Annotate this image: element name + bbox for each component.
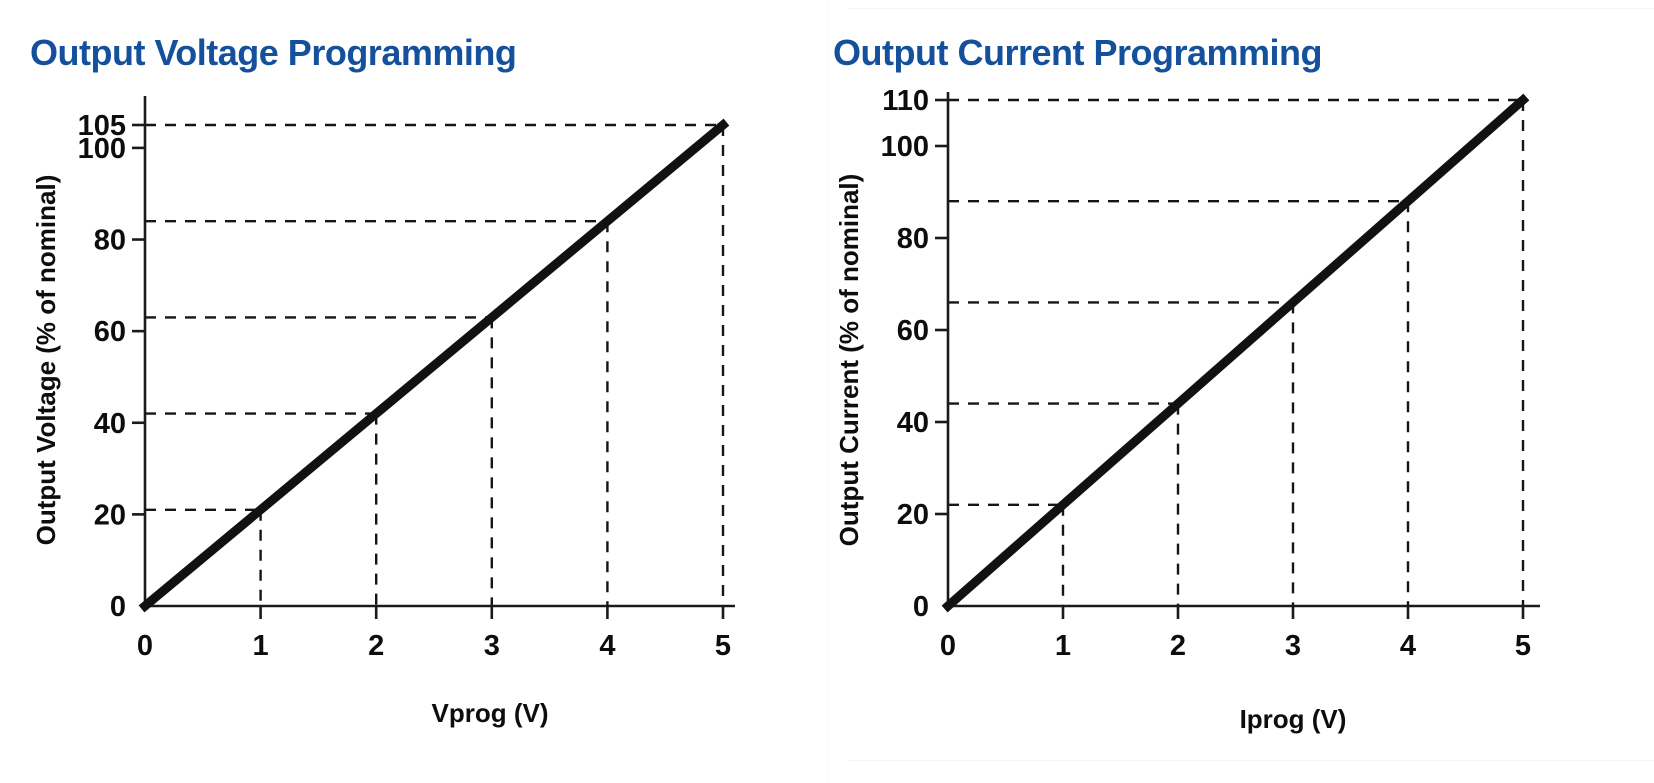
y-tick-label: 20	[897, 499, 929, 531]
x-tick-labels-current: 012345	[940, 630, 1531, 662]
y-tick-label: 100	[881, 131, 929, 163]
x-tick-labels-voltage: 012345	[137, 630, 731, 662]
x-tick-label: 3	[1285, 630, 1301, 662]
y-axis-title-current: Output Current (% of nominal)	[834, 174, 864, 547]
x-tick-label: 3	[484, 630, 500, 662]
x-tick-label: 1	[1055, 630, 1071, 662]
y-tick-label: 80	[94, 225, 126, 257]
x-tick-label: 4	[599, 630, 615, 662]
y-tick-label: 110	[882, 85, 929, 117]
plot-area-current: 020406080100110 012345 Iprog (V) Output …	[834, 85, 1540, 734]
y-tick-label: 40	[94, 408, 126, 440]
x-tick-label: 0	[940, 630, 956, 662]
x-tick-label: 2	[1170, 630, 1186, 662]
plots-svg: 020406080100105 012345 Vprog (V) Output …	[0, 0, 1654, 783]
y-tick-labels-voltage: 020406080100105	[78, 110, 126, 623]
x-tick-label: 4	[1400, 630, 1416, 662]
x-tick-label: 5	[1515, 630, 1531, 662]
y-tick-label: 20	[94, 499, 126, 531]
y-tick-labels-current: 020406080100110	[881, 85, 929, 623]
x-tick-label: 2	[368, 630, 384, 662]
y-tick-label: 60	[897, 315, 929, 347]
y-tick-label: 80	[897, 223, 929, 255]
x-axis-title-current: Iprog (V)	[1240, 704, 1347, 734]
x-tick-label: 5	[715, 630, 731, 662]
data-trace-current	[948, 100, 1523, 606]
y-tick-label: 40	[897, 407, 929, 439]
y-tick-label: 0	[110, 591, 126, 623]
x-tick-label: 1	[253, 630, 269, 662]
y-tick-label: 0	[913, 591, 929, 623]
plot-area-voltage: 020406080100105 012345 Vprog (V) Output …	[31, 96, 735, 728]
x-tick-label: 0	[137, 630, 153, 662]
y-tick-label: 105	[78, 110, 126, 142]
data-trace-voltage	[145, 125, 723, 606]
y-axis-title-voltage: Output Voltage (% of nominal)	[31, 175, 61, 546]
x-axis-title-voltage: Vprog (V)	[432, 698, 549, 728]
y-tick-label: 60	[94, 316, 126, 348]
